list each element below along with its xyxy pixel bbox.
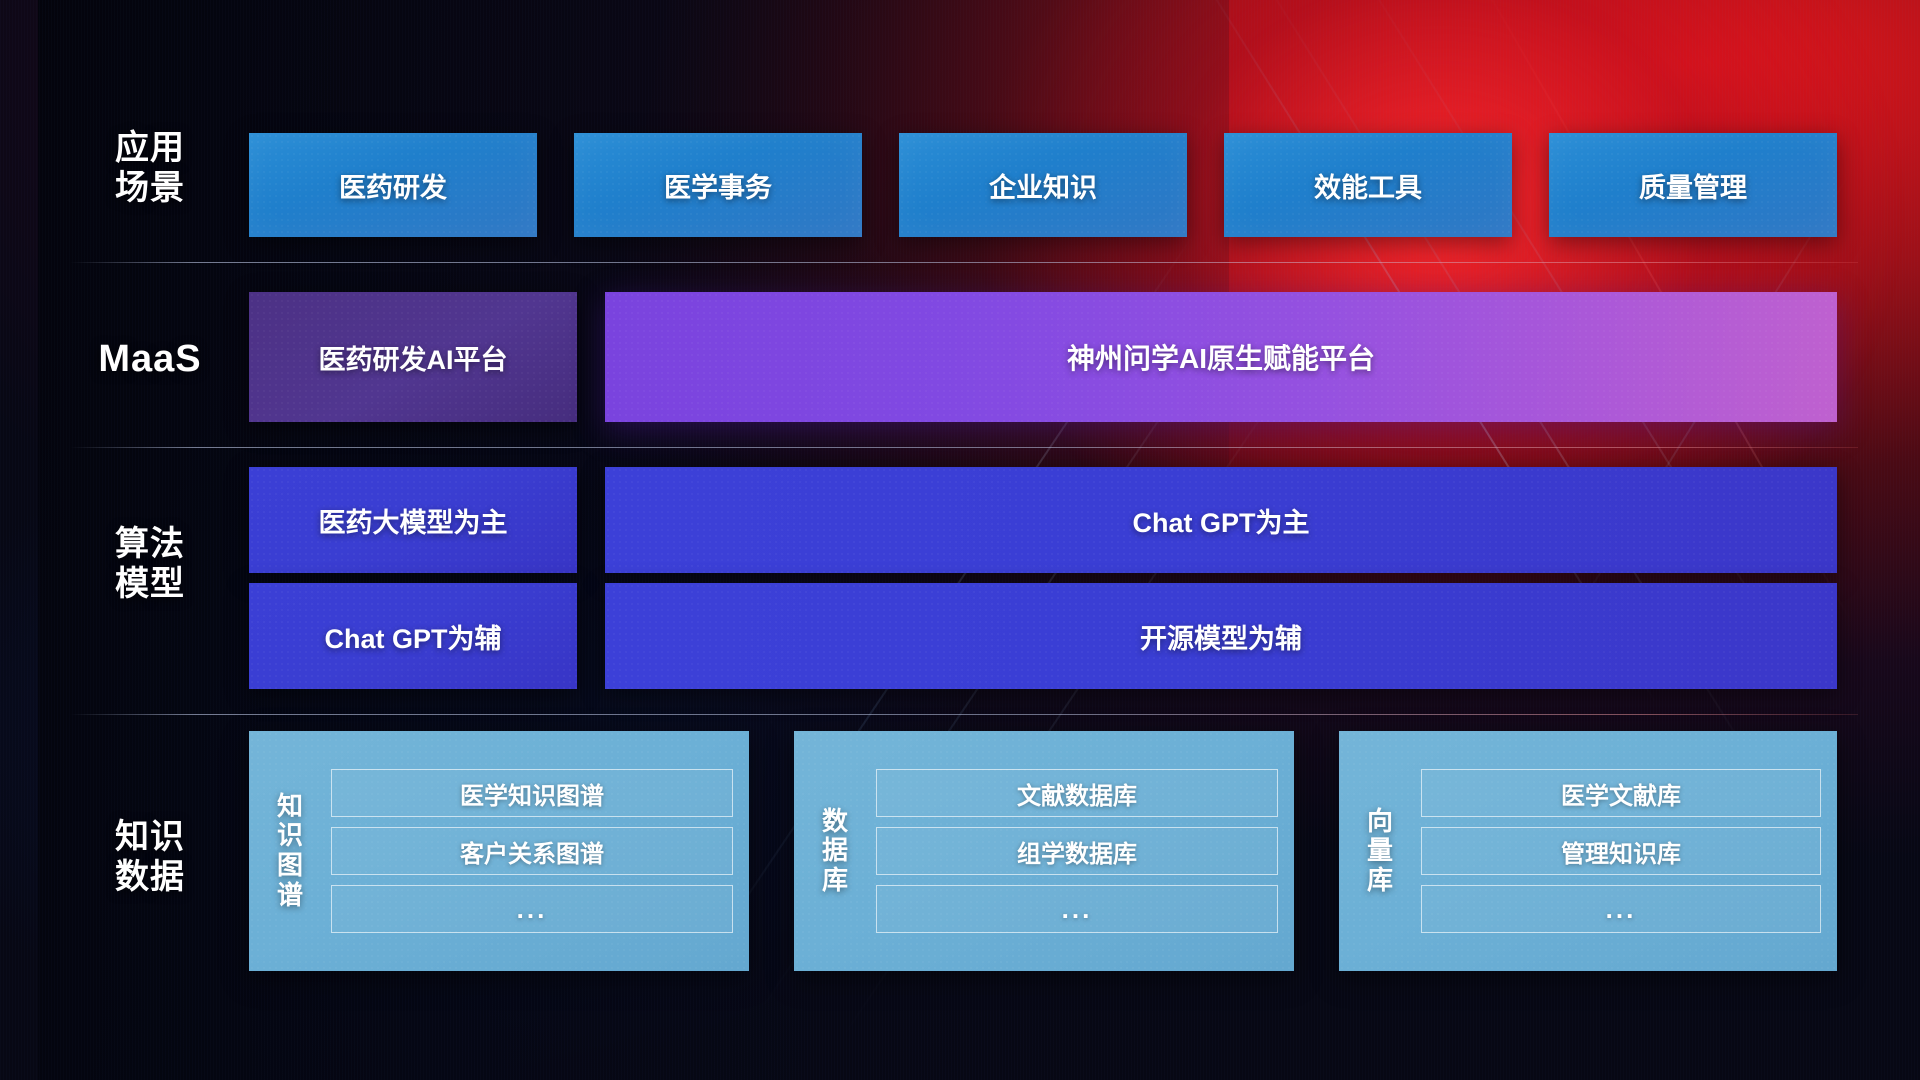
algo-box-label: 开源模型为辅: [1140, 617, 1302, 656]
maas-box-label: 神州问学AI原生赋能平台: [1067, 337, 1375, 377]
divider-maas-algorithm: [70, 447, 1858, 448]
knowledge-panel-label-char: 向: [1367, 807, 1393, 837]
app-box-medical-affairs[interactable]: 医学事务: [574, 133, 862, 237]
app-box-efficiency-tools[interactable]: 效能工具: [1224, 133, 1512, 237]
knowledge-panel-label-char: 数: [822, 807, 848, 837]
knowledge-item[interactable]: 客户关系图谱: [331, 827, 733, 875]
divider-line: [70, 714, 1858, 715]
row-label-line: 应用: [70, 128, 230, 168]
knowledge-item[interactable]: 医学文献库: [1421, 769, 1821, 817]
knowledge-item-more[interactable]: ...: [1421, 885, 1821, 933]
knowledge-panel-label-char: 库: [1367, 866, 1393, 896]
knowledge-panel-label: 向 量 库: [1349, 745, 1411, 957]
row-label-line: 模型: [70, 564, 230, 604]
knowledge-panel-label-char: 据: [822, 836, 848, 866]
divider-line: [70, 262, 1858, 263]
row-label-knowledge: 知识 数据: [70, 817, 230, 897]
row-label-algorithm: 算法 模型: [70, 524, 230, 604]
knowledge-item[interactable]: 医学知识图谱: [331, 769, 733, 817]
knowledge-panel-label-char: 图: [277, 851, 303, 881]
knowledge-panel-items: 医学文献库 管理知识库 ...: [1411, 745, 1821, 957]
knowledge-item[interactable]: 组学数据库: [876, 827, 1278, 875]
algo-box-label: Chat GPT为辅: [324, 617, 501, 656]
algo-box-chatgpt-secondary[interactable]: Chat GPT为辅: [249, 583, 577, 689]
knowledge-panel-vector-store[interactable]: 向 量 库 医学文献库 管理知识库 ...: [1339, 731, 1837, 971]
app-box-label: 企业知识: [989, 166, 1097, 205]
algo-box-medicine-llm-primary[interactable]: 医药大模型为主: [249, 467, 577, 573]
row-label-application: 应用 场景: [70, 128, 230, 208]
knowledge-panel-label-char: 库: [822, 866, 848, 896]
knowledge-item[interactable]: 文献数据库: [876, 769, 1278, 817]
row-label-line: 场景: [70, 168, 230, 208]
divider-application-maas: [70, 262, 1858, 263]
row-label-line: 数据: [70, 857, 230, 897]
knowledge-panel-graph[interactable]: 知 识 图 谱 医学知识图谱 客户关系图谱 ...: [249, 731, 749, 971]
app-box-label: 医学事务: [664, 166, 772, 205]
knowledge-panel-database[interactable]: 数 据 库 文献数据库 组学数据库 ...: [794, 731, 1294, 971]
algo-box-opensource-secondary[interactable]: 开源模型为辅: [605, 583, 1837, 689]
row-label-line: 算法: [70, 524, 230, 564]
app-box-quality-management[interactable]: 质量管理: [1549, 133, 1837, 237]
knowledge-panel-label: 知 识 图 谱: [259, 745, 321, 957]
divider-algorithm-knowledge: [70, 714, 1858, 715]
algo-box-label: Chat GPT为主: [1132, 501, 1309, 540]
maas-box-medicine-ai-platform[interactable]: 医药研发AI平台: [249, 292, 577, 422]
app-box-label: 质量管理: [1639, 166, 1747, 205]
app-box-enterprise-knowledge[interactable]: 企业知识: [899, 133, 1187, 237]
knowledge-panel-label-char: 谱: [277, 881, 303, 911]
divider-line: [70, 447, 1858, 448]
knowledge-panel-items: 文献数据库 组学数据库 ...: [866, 745, 1278, 957]
knowledge-panel-label-char: 量: [1367, 836, 1393, 866]
knowledge-panel-label: 数 据 库: [804, 745, 866, 957]
maas-box-shenzhou-platform[interactable]: 神州问学AI原生赋能平台: [605, 292, 1837, 422]
row-label-line: 知识: [70, 817, 230, 857]
row-label-line: MaaS: [70, 337, 230, 382]
knowledge-item-more[interactable]: ...: [331, 885, 733, 933]
maas-box-label: 医药研发AI平台: [319, 338, 508, 377]
knowledge-panel-items: 医学知识图谱 客户关系图谱 ...: [321, 745, 733, 957]
knowledge-panel-label-char: 知: [277, 792, 303, 822]
app-box-label: 医药研发: [339, 166, 447, 205]
row-label-maas: MaaS: [70, 337, 230, 382]
knowledge-item-more[interactable]: ...: [876, 885, 1278, 933]
algo-box-label: 医药大模型为主: [319, 501, 508, 540]
app-box-medicine-rd[interactable]: 医药研发: [249, 133, 537, 237]
knowledge-panel-label-char: 识: [277, 821, 303, 851]
app-box-label: 效能工具: [1314, 166, 1422, 205]
knowledge-item[interactable]: 管理知识库: [1421, 827, 1821, 875]
algo-box-chatgpt-primary[interactable]: Chat GPT为主: [605, 467, 1837, 573]
